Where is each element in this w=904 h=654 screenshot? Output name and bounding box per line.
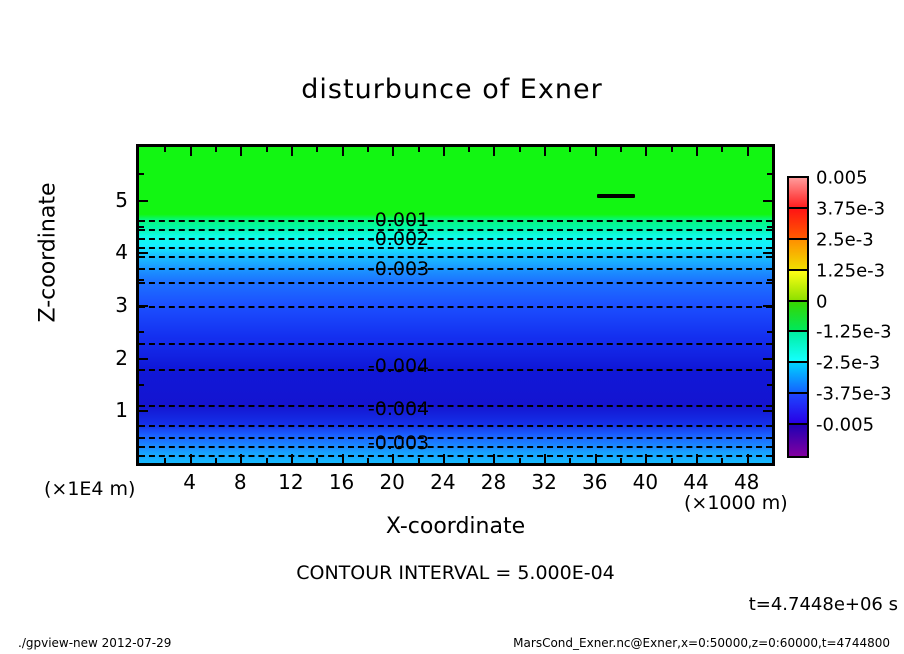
x-tick-minor <box>316 458 318 463</box>
x-tick-major <box>342 454 344 463</box>
y-tick-minor <box>767 226 772 228</box>
y-tick-major <box>763 252 772 254</box>
colorbar <box>787 176 809 458</box>
colorbar-band <box>789 394 807 425</box>
y-tick-minor <box>767 173 772 175</box>
y-tick-label: 3 <box>96 293 128 317</box>
x-tick-label: 32 <box>531 470 556 494</box>
x-tick-minor <box>519 147 521 152</box>
x-axis-title: X-coordinate <box>136 514 775 539</box>
colorbar-label: -3.75e-3 <box>816 384 892 405</box>
x-tick-minor <box>418 147 420 152</box>
x-tick-minor <box>367 147 369 152</box>
x-tick-minor <box>367 458 369 463</box>
y-tick-major <box>763 200 772 202</box>
colorbar-band <box>789 425 807 456</box>
contour-value-label: -0.004 <box>368 357 429 376</box>
colorbar-band <box>789 209 807 240</box>
x-tick-minor <box>164 458 166 463</box>
colorbar-label: -0.005 <box>816 415 874 436</box>
y-tick-major <box>139 358 148 360</box>
x-tick-major <box>696 147 698 156</box>
x-tick-label: 40 <box>633 470 658 494</box>
contour-value-label: -0.003 <box>368 434 429 453</box>
y-tick-minor <box>139 173 144 175</box>
contour-line <box>139 446 772 448</box>
x-tick-minor <box>316 147 318 152</box>
y-axis-unit-label: (×1E4 m) <box>44 478 135 500</box>
x-tick-major <box>342 147 344 156</box>
x-tick-minor <box>468 458 470 463</box>
x-tick-major <box>493 147 495 156</box>
x-tick-major <box>291 454 293 463</box>
x-tick-label: 12 <box>278 470 303 494</box>
y-tick-major <box>763 358 772 360</box>
x-tick-major <box>595 454 597 463</box>
x-tick-minor <box>215 458 217 463</box>
y-tick-minor <box>139 331 144 333</box>
y-tick-major <box>139 410 148 412</box>
y-tick-minor <box>767 437 772 439</box>
x-tick-label: 8 <box>234 470 247 494</box>
x-tick-major <box>240 454 242 463</box>
x-tick-major <box>443 454 445 463</box>
colorbar-label: 0 <box>816 291 827 312</box>
x-tick-label: 16 <box>329 470 354 494</box>
contour-line <box>139 425 772 427</box>
x-tick-minor <box>266 458 268 463</box>
x-tick-minor <box>721 458 723 463</box>
x-tick-label: 48 <box>734 470 759 494</box>
x-tick-major <box>392 147 394 156</box>
colorbar-label: 1.25e-3 <box>816 260 885 281</box>
contour-plot-area: -0.001-0.002-0.003-0.004-0.004-0.003 <box>136 144 775 466</box>
x-tick-minor <box>671 147 673 152</box>
contour-line <box>139 256 772 258</box>
contour-interval-note: CONTOUR INTERVAL = 5.000E-04 <box>136 562 775 584</box>
contour-line <box>139 437 772 439</box>
y-tick-label: 4 <box>96 240 128 264</box>
x-tick-major <box>645 454 647 463</box>
x-tick-major <box>645 147 647 156</box>
colorbar-band <box>789 240 807 271</box>
x-tick-label: 20 <box>379 470 404 494</box>
closed-contour-marker <box>597 194 635 198</box>
colorbar-band <box>789 302 807 333</box>
y-tick-label: 2 <box>96 346 128 370</box>
y-tick-minor <box>767 384 772 386</box>
y-tick-minor <box>139 437 144 439</box>
x-tick-minor <box>569 147 571 152</box>
y-tick-minor <box>139 279 144 281</box>
y-tick-major <box>139 252 148 254</box>
x-tick-minor <box>620 147 622 152</box>
contour-line <box>139 369 772 371</box>
contour-line <box>139 238 772 240</box>
footer-dataset-info: MarsCond_Exner.nc@Exner,x=0:50000,z=0:60… <box>0 636 890 650</box>
x-tick-label: 28 <box>481 470 506 494</box>
contour-value-label: -0.004 <box>368 400 429 419</box>
colorbar-band <box>789 363 807 394</box>
y-tick-minor <box>767 331 772 333</box>
colorbar-label: 3.75e-3 <box>816 198 885 219</box>
x-tick-minor <box>468 147 470 152</box>
page-title: disturbunce of Exner <box>0 74 904 105</box>
x-tick-major <box>544 454 546 463</box>
x-tick-major <box>493 454 495 463</box>
y-tick-minor <box>139 384 144 386</box>
y-tick-major <box>763 410 772 412</box>
y-axis-title: Z-coordinate <box>36 143 61 363</box>
x-tick-label: 24 <box>430 470 455 494</box>
x-tick-major <box>190 454 192 463</box>
contour-line <box>139 306 772 308</box>
y-tick-major <box>763 305 772 307</box>
colorbar-band <box>789 178 807 209</box>
contour-line <box>139 405 772 407</box>
colorbar-label: -2.5e-3 <box>816 353 880 374</box>
y-tick-major <box>139 200 148 202</box>
contour-value-label: -0.003 <box>368 260 429 279</box>
x-tick-major <box>747 454 749 463</box>
time-stamp-note: t=4.7448e+06 s <box>0 594 898 615</box>
x-tick-minor <box>215 147 217 152</box>
x-tick-major <box>240 147 242 156</box>
contour-line <box>139 282 772 284</box>
x-tick-minor <box>569 458 571 463</box>
contour-line <box>139 220 772 222</box>
colorbar-label: 0.005 <box>816 168 868 189</box>
y-tick-minor <box>139 226 144 228</box>
x-tick-major <box>190 147 192 156</box>
colorbar-label: -1.25e-3 <box>816 322 892 343</box>
y-tick-minor <box>767 279 772 281</box>
y-tick-major <box>139 305 148 307</box>
x-axis-unit-label: (×1000 m) <box>684 492 788 514</box>
x-tick-major <box>696 454 698 463</box>
contour-line <box>139 247 772 249</box>
contour-line <box>139 268 772 270</box>
x-tick-label: 4 <box>183 470 196 494</box>
x-tick-minor <box>266 147 268 152</box>
x-tick-minor <box>620 458 622 463</box>
y-tick-label: 5 <box>96 188 128 212</box>
x-tick-major <box>595 147 597 156</box>
x-tick-minor <box>164 147 166 152</box>
x-tick-minor <box>671 458 673 463</box>
colorbar-label: 2.5e-3 <box>816 229 874 250</box>
contour-line <box>139 455 772 457</box>
contour-line <box>139 229 772 231</box>
contour-value-label: -0.002 <box>368 230 429 249</box>
x-tick-label: 44 <box>683 470 708 494</box>
colorbar-band <box>789 332 807 363</box>
colorbar-band <box>789 271 807 302</box>
x-tick-label: 36 <box>582 470 607 494</box>
y-tick-label: 1 <box>96 398 128 422</box>
x-tick-major <box>747 147 749 156</box>
x-tick-minor <box>519 458 521 463</box>
x-tick-major <box>544 147 546 156</box>
contour-line <box>139 343 772 345</box>
x-tick-minor <box>721 147 723 152</box>
x-tick-major <box>443 147 445 156</box>
x-tick-major <box>291 147 293 156</box>
x-tick-major <box>392 454 394 463</box>
x-tick-minor <box>418 458 420 463</box>
